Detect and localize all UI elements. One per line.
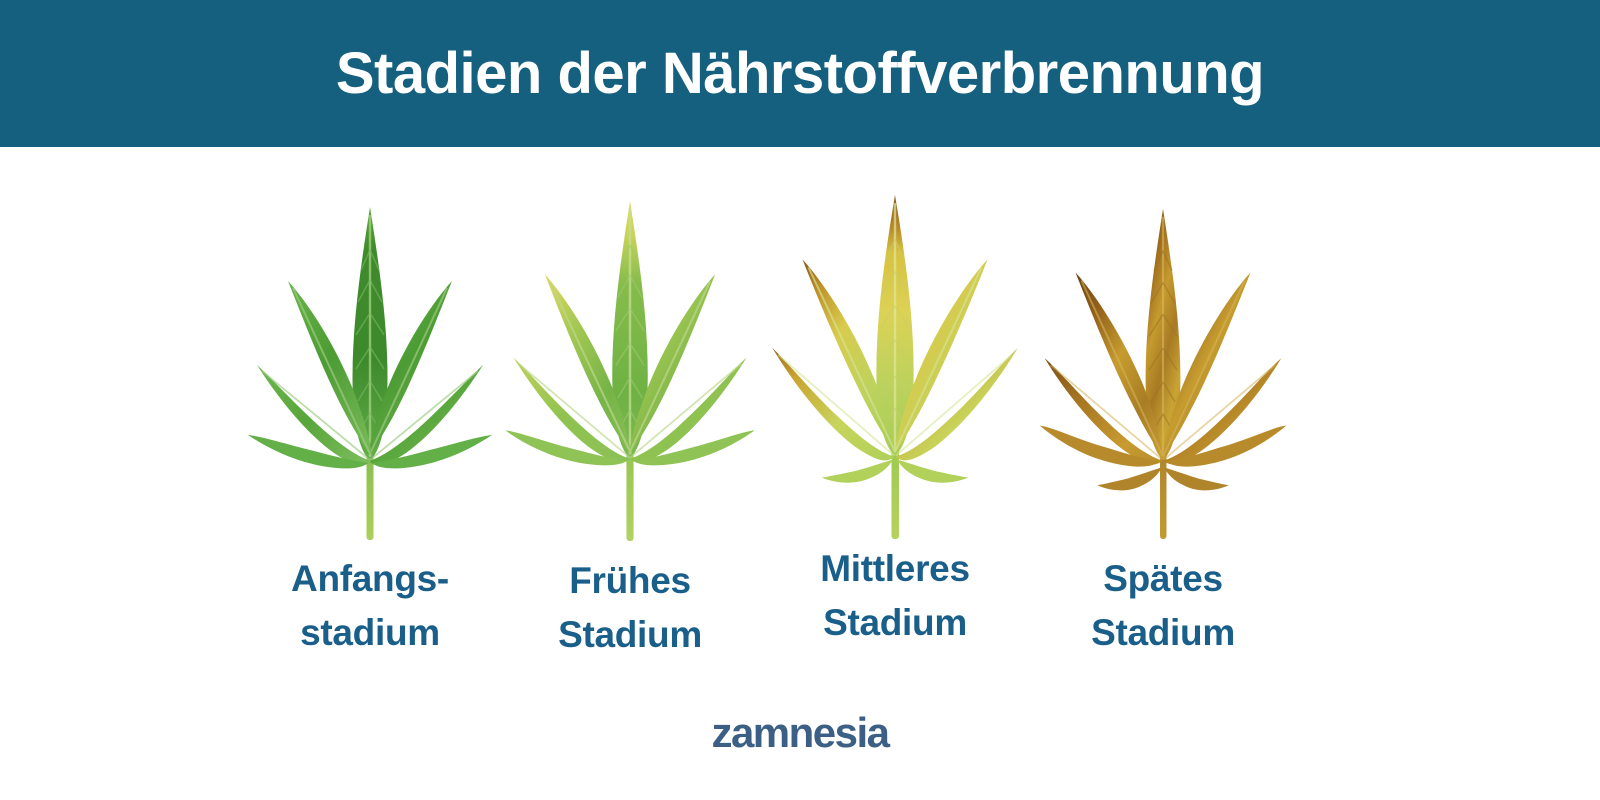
footer-logo: zamnesia [0, 712, 1600, 754]
page-title: Stadien der Nährstoffverbrennung [336, 45, 1264, 103]
stage-item-2: Frühes Stadium [480, 147, 780, 707]
stage-label-4-line2: Stadium [1013, 606, 1313, 660]
stage-label-3: Mittleres Stadium [745, 542, 1045, 649]
stage-item-4: Spätes Stadium [1013, 147, 1313, 707]
header-band: Stadien der Nährstoffverbrennung [0, 0, 1600, 147]
cannabis-leaf-icon [758, 187, 1033, 539]
stage-label-1: Anfangs- stadium [220, 552, 520, 659]
zamnesia-logo: zamnesia [711, 712, 888, 754]
cannabis-leaf-icon [498, 189, 763, 544]
stage-label-1-line2: stadium [220, 606, 520, 660]
stage-label-2: Frühes Stadium [480, 554, 780, 661]
cannabis-leaf-icon [240, 195, 500, 545]
stage-label-3-line1: Mittleres [745, 542, 1045, 596]
stage-item-1: Anfangs- stadium [220, 147, 520, 707]
stage-label-2-line2: Stadium [480, 608, 780, 662]
stage-label-1-line1: Anfangs- [220, 552, 520, 606]
stages-row: Anfangs- stadium [0, 147, 1600, 707]
stage-label-4: Spätes Stadium [1013, 552, 1313, 659]
stage-label-4-line1: Spätes [1013, 552, 1313, 606]
stage-label-3-line2: Stadium [745, 596, 1045, 650]
infographic-root: Stadien der Nährstoffverbrennung [0, 0, 1600, 800]
stage-label-2-line1: Frühes [480, 554, 780, 608]
stage-item-3: Mittleres Stadium [745, 147, 1045, 707]
cannabis-leaf-icon [1029, 195, 1297, 543]
